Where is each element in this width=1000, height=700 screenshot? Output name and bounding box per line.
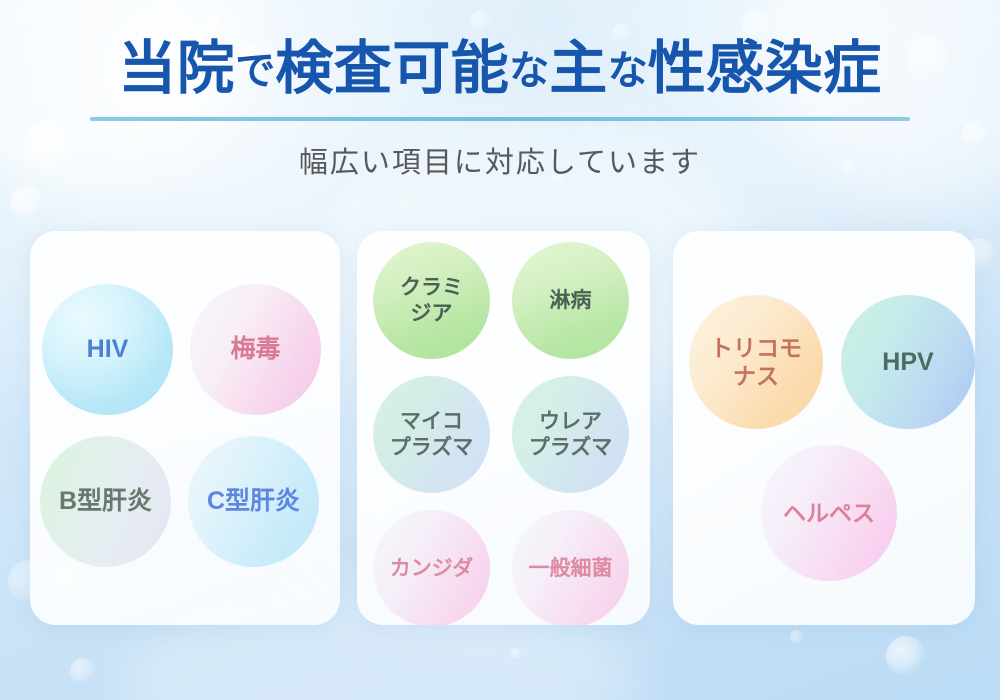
- title-segment: 当院: [118, 36, 235, 101]
- poster-canvas: 当院で検査可能な主な性感染症 幅広い項目に対応しています HIV 梅毒 B型肝炎…: [0, 0, 1000, 700]
- bokeh-dot: [895, 265, 911, 281]
- bubble-baidoku[interactable]: 梅毒: [190, 284, 321, 415]
- bubble-hpv[interactable]: HPV: [841, 295, 975, 429]
- bokeh-dot: [790, 630, 804, 644]
- disease-card-middle: クラミ ジア 淋病 マイコ プラズマ ウレア プラズマ カンジダ 一般細菌: [357, 231, 650, 625]
- page-title: 当院で検査可能な主な性感染症: [0, 0, 1000, 101]
- bokeh-dot: [10, 186, 44, 220]
- bubble-ureaplasma[interactable]: ウレア プラズマ: [512, 376, 629, 493]
- disease-card-left: HIV 梅毒 B型肝炎 C型肝炎: [30, 231, 340, 625]
- bubble-hepatitis-c[interactable]: C型肝炎: [188, 436, 319, 567]
- header: 当院で検査可能な主な性感染症 幅広い項目に対応しています: [0, 0, 1000, 181]
- bokeh-dot: [352, 200, 364, 212]
- bubble-chlamydia[interactable]: クラミ ジア: [373, 242, 490, 359]
- bubble-trichomonas[interactable]: トリコモ ナス: [689, 295, 823, 429]
- disease-card-right: トリコモ ナス HPV ヘルペス: [673, 231, 975, 625]
- bubble-hepatitis-b[interactable]: B型肝炎: [40, 436, 171, 567]
- bokeh-dot: [510, 648, 522, 660]
- bokeh-dot: [52, 561, 88, 597]
- bubble-candida[interactable]: カンジダ: [373, 510, 490, 625]
- title-segment: 検査可能: [275, 36, 509, 101]
- bokeh-dot: [375, 503, 393, 521]
- bokeh-dot: [126, 249, 156, 279]
- bubble-hiv[interactable]: HIV: [42, 284, 173, 415]
- bokeh-dot: [886, 636, 926, 676]
- bubble-herpes[interactable]: ヘルペス: [761, 445, 897, 581]
- title-segment-kana: な: [608, 49, 648, 93]
- title-segment: 性感染症: [648, 36, 882, 101]
- bokeh-dot: [70, 658, 96, 684]
- title-segment: 主: [549, 36, 608, 101]
- bokeh-dot: [799, 247, 827, 275]
- bubble-gonorrhea[interactable]: 淋病: [512, 242, 629, 359]
- bubble-general-bacteria[interactable]: 一般細菌: [512, 510, 629, 625]
- title-segment-kana: で: [235, 49, 275, 93]
- bubble-mycoplasma[interactable]: マイコ プラズマ: [373, 376, 490, 493]
- page-subtitle: 幅広い項目に対応しています: [0, 121, 1000, 181]
- title-segment-kana: な: [509, 49, 549, 93]
